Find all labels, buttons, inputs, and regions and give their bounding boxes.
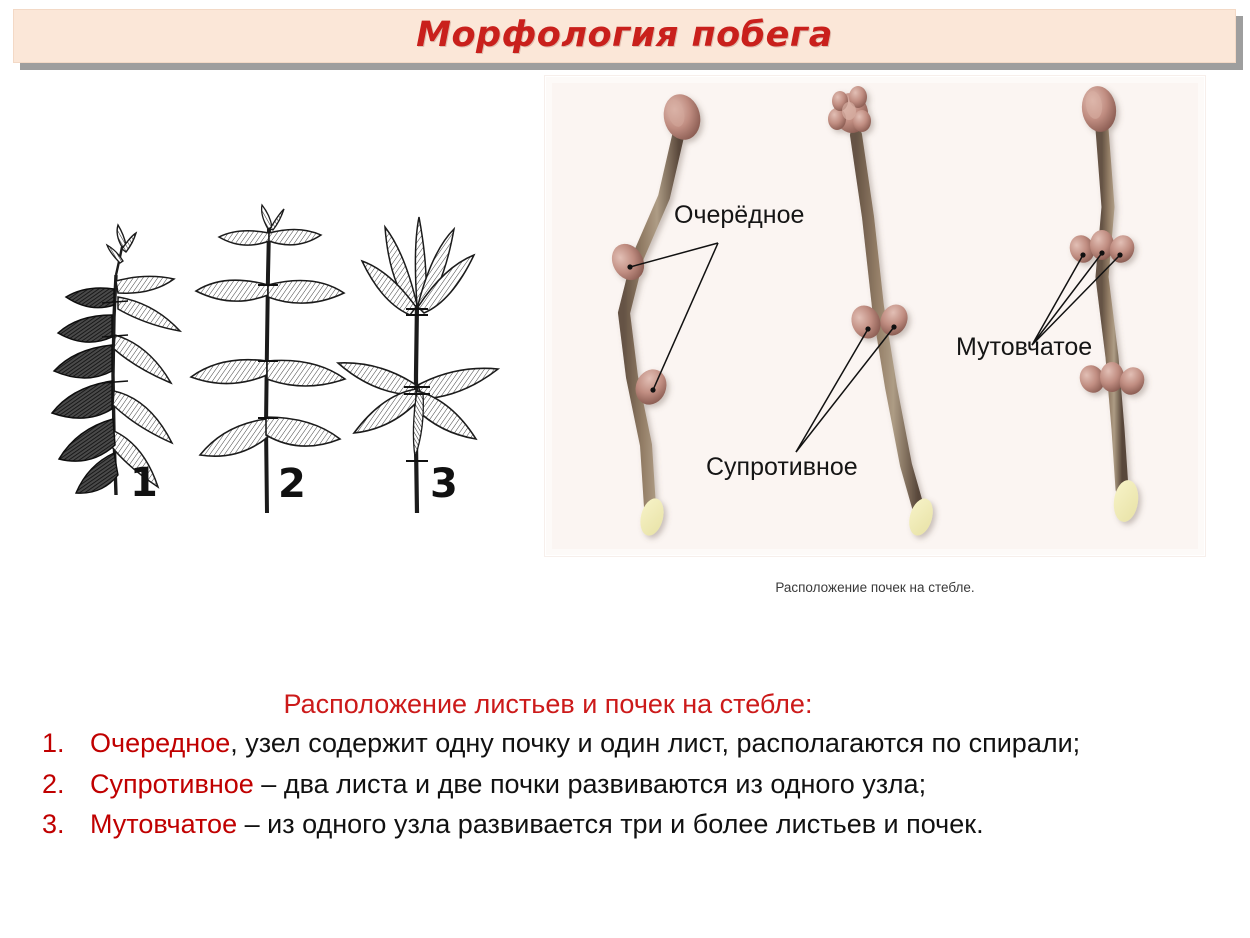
label-opposite: Супротивное (706, 453, 858, 481)
list-item-text: – два листа и две почки развиваются из о… (254, 769, 926, 799)
diagram-caption: Расположение почек на стебле. (545, 580, 1205, 595)
plant-drawing-2: 2 (191, 205, 345, 513)
list-item: 3.Мутовчатое – из одного узла развиваетс… (38, 805, 1218, 843)
leaf-arrangement-illustration: 1 2 (32, 185, 512, 515)
list-item-term: Очередное (90, 728, 230, 758)
twig-whorled (1066, 84, 1149, 524)
list-heading: Расположение листьев и почек на стебле: (38, 688, 1218, 720)
list-marker: 2. (42, 765, 65, 803)
label-whorled: Мутовчатое (956, 333, 1092, 361)
list-item: 1.Очередное, узел содержит одну почку и … (38, 724, 1218, 762)
leader-lines-opposite (796, 324, 897, 452)
page-title: Морфология побега (14, 15, 1235, 55)
plant-drawing-3: 3 (338, 217, 498, 513)
list-item-term: Супротивное (90, 769, 254, 799)
list-item-term: Мутовчатое (90, 809, 237, 839)
label-alternate: Очерёдное (674, 201, 804, 229)
plant-number-3: 3 (430, 461, 458, 507)
bud-arrangement-panel: Очерёдное Супротивное (545, 76, 1205, 556)
list-item-text: – из одного узла развивается три и более… (237, 809, 983, 839)
plant-number-2: 2 (278, 461, 306, 507)
list-item: 2.Супротивное – два листа и две почки ра… (38, 765, 1218, 803)
title-banner: Морфология побега (13, 9, 1236, 63)
twig-alternate (606, 90, 706, 538)
list-marker: 1. (42, 724, 65, 762)
list-marker: 3. (42, 805, 65, 843)
description-block: Расположение листьев и почек на стебле: … (38, 688, 1218, 845)
arrangement-list: 1.Очередное, узел содержит одну почку и … (38, 724, 1218, 843)
plant-number-1: 1 (130, 460, 158, 506)
plant-drawing-1: 1 (52, 225, 180, 506)
list-item-text: , узел содержит одну почку и один лист, … (230, 728, 1080, 758)
